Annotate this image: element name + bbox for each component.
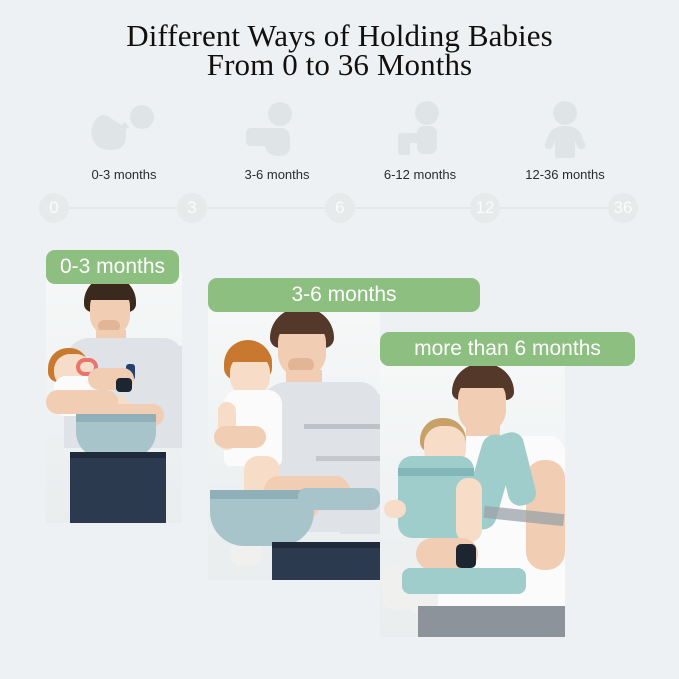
- age-timeline: 0-3 months 3-6 months 6-12 months 12-36 …: [0, 165, 679, 225]
- timeline-label-0: 0-3 months: [49, 167, 199, 182]
- timeline-label-3: 12-36 months: [490, 167, 640, 182]
- title-line-2: From 0 to 36 Months: [0, 51, 679, 80]
- page-title: Different Ways of Holding Babies From 0 …: [0, 22, 679, 80]
- timeline-label-1: 3-6 months: [202, 167, 352, 182]
- stage-badge-2: 3-6 months: [208, 278, 480, 312]
- stage-panel-3: more than 6 months: [380, 332, 670, 642]
- stage-badge-1: 0-3 months: [46, 250, 179, 284]
- stage-photo-3: [380, 360, 565, 637]
- timeline-node-12[interactable]: 12: [470, 193, 500, 223]
- timeline-node-36[interactable]: 36: [608, 193, 638, 223]
- baby-sitting-icon: [215, 100, 335, 162]
- stage-badge-3: more than 6 months: [380, 332, 635, 366]
- timeline-node-0[interactable]: 0: [39, 193, 69, 223]
- timeline-node-6[interactable]: 6: [325, 193, 355, 223]
- stage-photo-2: [208, 306, 380, 580]
- toddler-standing-icon: [505, 100, 625, 162]
- timeline-label-2: 6-12 months: [345, 167, 495, 182]
- baby-lying-icon: [64, 100, 184, 162]
- timeline-node-3[interactable]: 3: [177, 193, 207, 223]
- stage-icon-row: [0, 100, 679, 162]
- stage-photo-1: [46, 272, 182, 523]
- baby-crawling-icon: [365, 100, 485, 162]
- infographic-page: Different Ways of Holding Babies From 0 …: [0, 0, 679, 679]
